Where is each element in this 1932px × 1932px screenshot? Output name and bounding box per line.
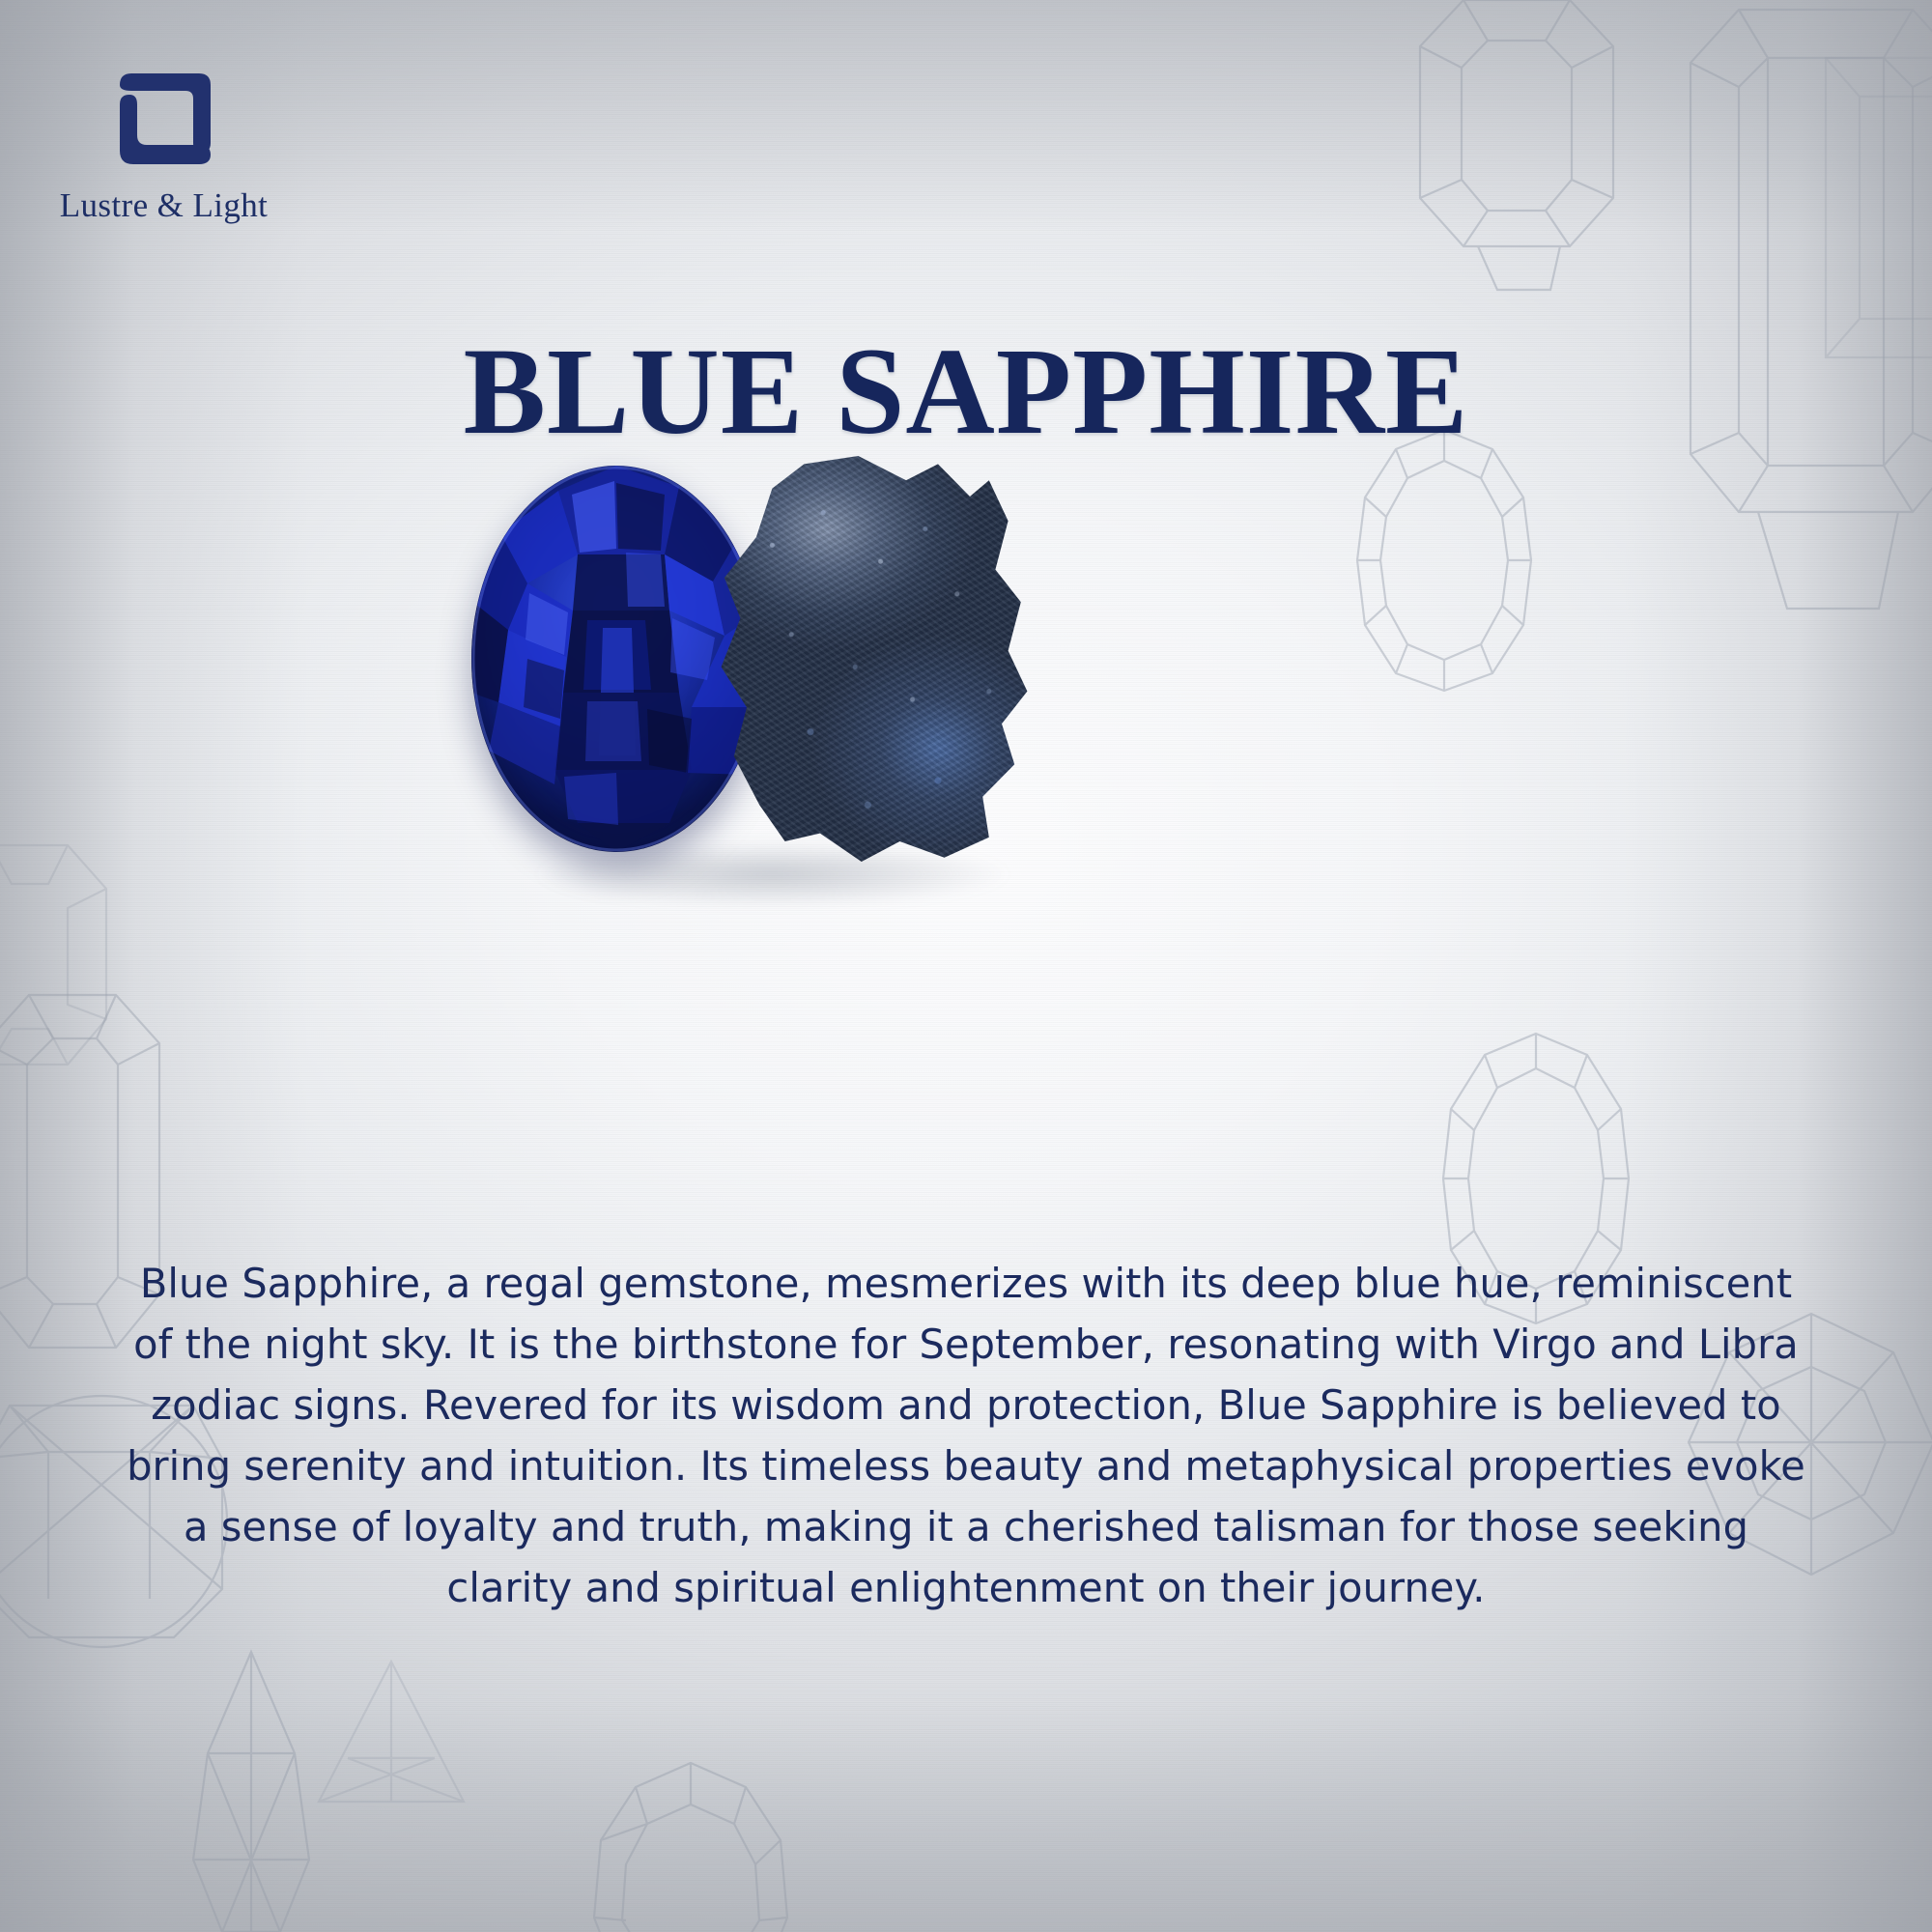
pear-gem-outline-bottom-left-icon bbox=[140, 1637, 362, 1932]
rough-stone-texture bbox=[715, 456, 1034, 862]
brand-lockup[interactable]: Lustre & Light bbox=[50, 60, 340, 225]
octagon-gem-outline-left-upper-icon bbox=[0, 831, 126, 1082]
edge-vignette bbox=[0, 0, 1932, 1932]
gem-watermark-layer bbox=[0, 0, 1932, 1932]
emerald-cut-gem-outline-top-right-icon bbox=[1671, 0, 1932, 647]
trillion-gem-outline-bottom-left-icon bbox=[299, 1642, 483, 1835]
paper-texture-overlay bbox=[0, 0, 1932, 1932]
page-title: BLUE SAPPHIRE bbox=[0, 329, 1932, 453]
lustre-light-monogram-icon bbox=[106, 60, 222, 176]
rough-sapphire-stone bbox=[715, 456, 1034, 862]
gem-hero-image bbox=[415, 444, 1150, 927]
oval-gem-outline-right-icon bbox=[1348, 420, 1541, 700]
description-paragraph: Blue Sapphire, a regal gemstone, mesmeri… bbox=[116, 1253, 1816, 1618]
cut-sapphire-gem bbox=[471, 466, 761, 852]
brand-name: Lustre & Light bbox=[50, 186, 277, 225]
oval-gem-outline-bottom-icon bbox=[580, 1748, 802, 1932]
poster-canvas: Lustre & Light BLUE SAPPHIRE bbox=[0, 0, 1932, 1932]
octagon-gem-outline-top-icon bbox=[1406, 0, 1628, 309]
